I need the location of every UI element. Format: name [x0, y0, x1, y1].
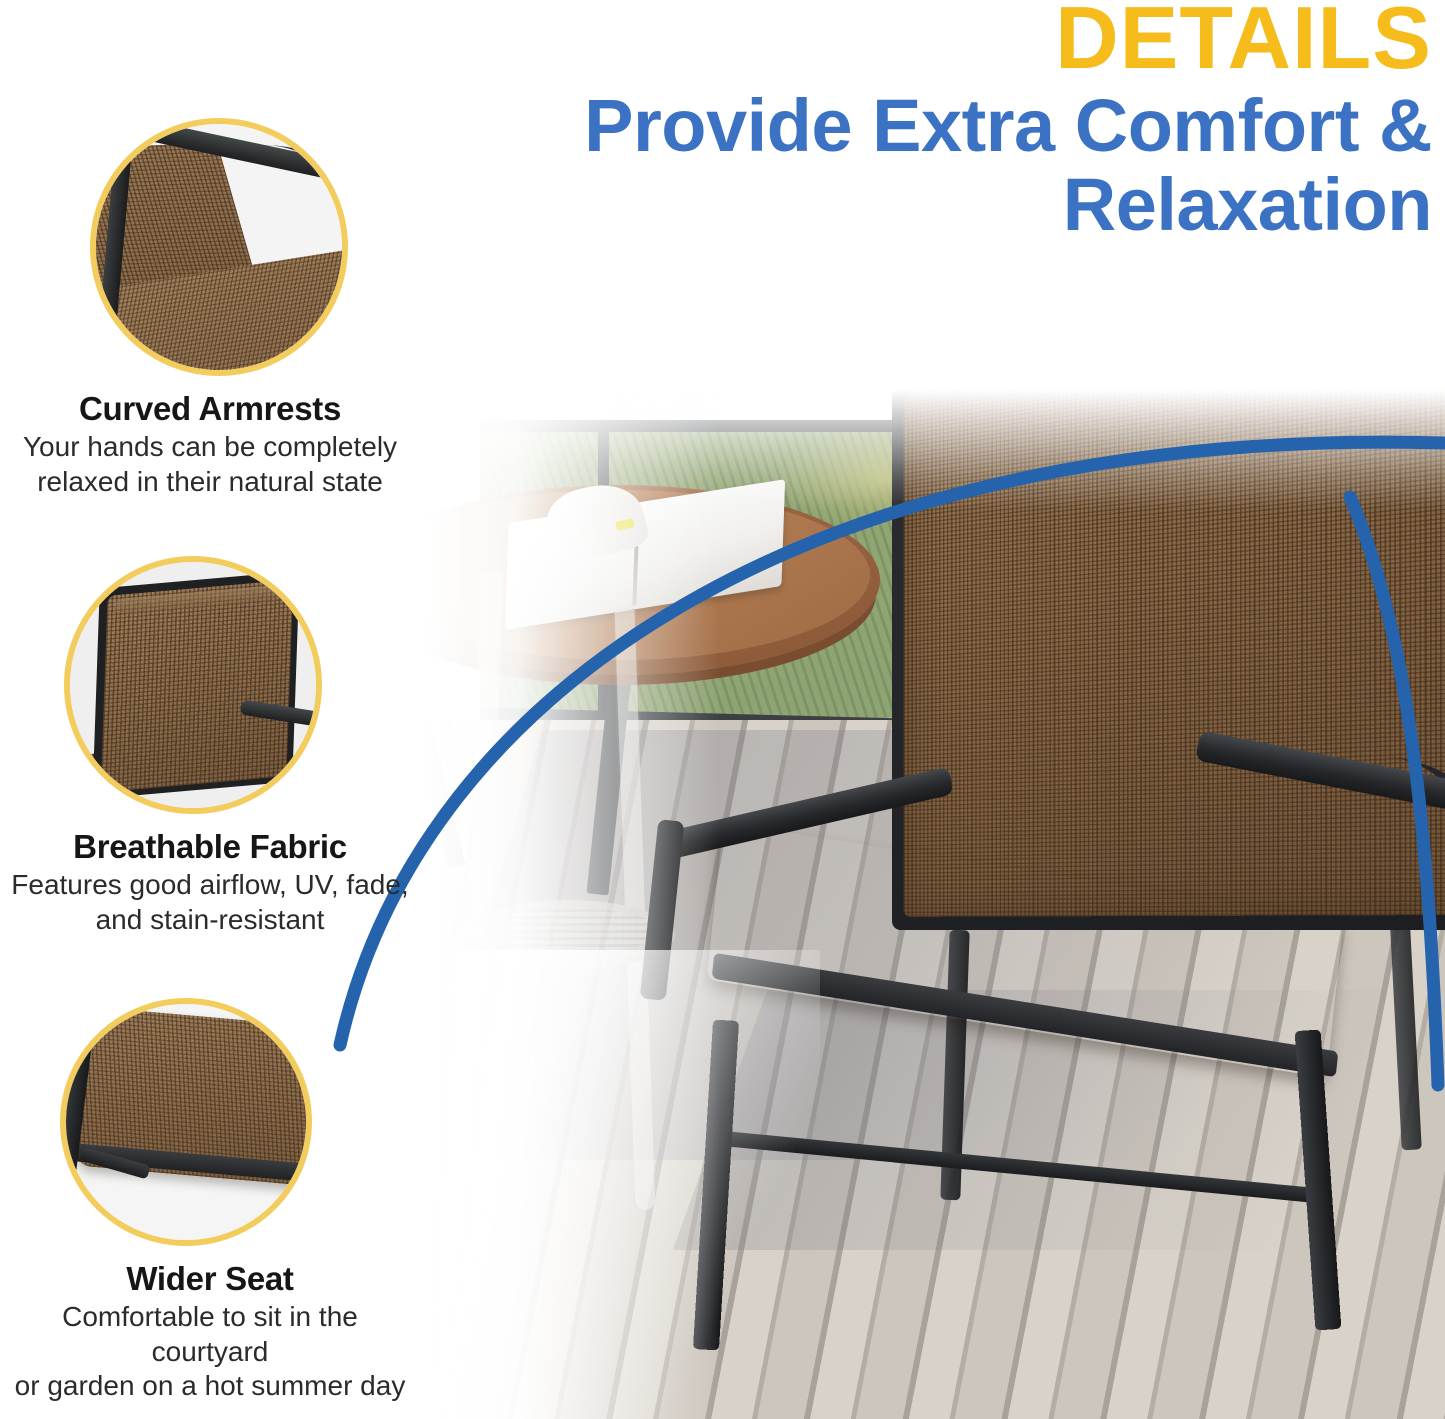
page-title-line-2: Relaxation — [330, 165, 1432, 244]
feature-description-line-1: Comfortable to sit in the courtyard — [0, 1300, 420, 1369]
feature-image-curved-armrests — [90, 118, 348, 376]
feature-wider-seat: Wider Seat Comfortable to sit in the cou… — [0, 998, 420, 1404]
page-title: Provide Extra Comfort & Relaxation — [330, 86, 1440, 244]
armrest-closeup-image — [96, 124, 342, 370]
fabric-closeup-image — [70, 562, 316, 808]
feature-description-line-2: relaxed in their natural state — [0, 465, 420, 500]
feature-title: Breathable Fabric — [0, 828, 420, 866]
chair-leg-front-left — [693, 1020, 739, 1351]
feature-description-line-2: and stain-resistant — [0, 903, 420, 938]
feature-breathable-fabric: Breathable Fabric Features good airflow,… — [0, 556, 420, 937]
hero-photo-scene — [300, 390, 1445, 1419]
page-kicker: DETAILS — [330, 0, 1440, 82]
seat-closeup-image — [66, 1004, 306, 1240]
feature-title: Curved Armrests — [0, 390, 420, 428]
feature-description-line-2: or garden on a hot summer day — [0, 1369, 420, 1404]
chair-back-fabric — [904, 390, 1445, 917]
infographic-canvas: DETAILS Provide Extra Comfort & Relaxati… — [0, 0, 1445, 1419]
feature-image-wider-seat — [60, 998, 312, 1246]
chair-stretcher — [726, 1131, 1325, 1203]
hero-photo — [300, 390, 1445, 1419]
page-title-line-1: Provide Extra Comfort & — [330, 86, 1432, 165]
feature-description-line-1: Features good airflow, UV, fade, — [0, 868, 420, 903]
feature-curved-armrests: Curved Armrests Your hands can be comple… — [0, 118, 420, 499]
feature-image-breathable-fabric — [64, 556, 322, 814]
header: DETAILS Provide Extra Comfort & Relaxati… — [330, 0, 1440, 244]
patio-chair — [695, 390, 1445, 1350]
feature-description-line-1: Your hands can be completely — [0, 430, 420, 465]
feature-title: Wider Seat — [0, 1260, 420, 1298]
